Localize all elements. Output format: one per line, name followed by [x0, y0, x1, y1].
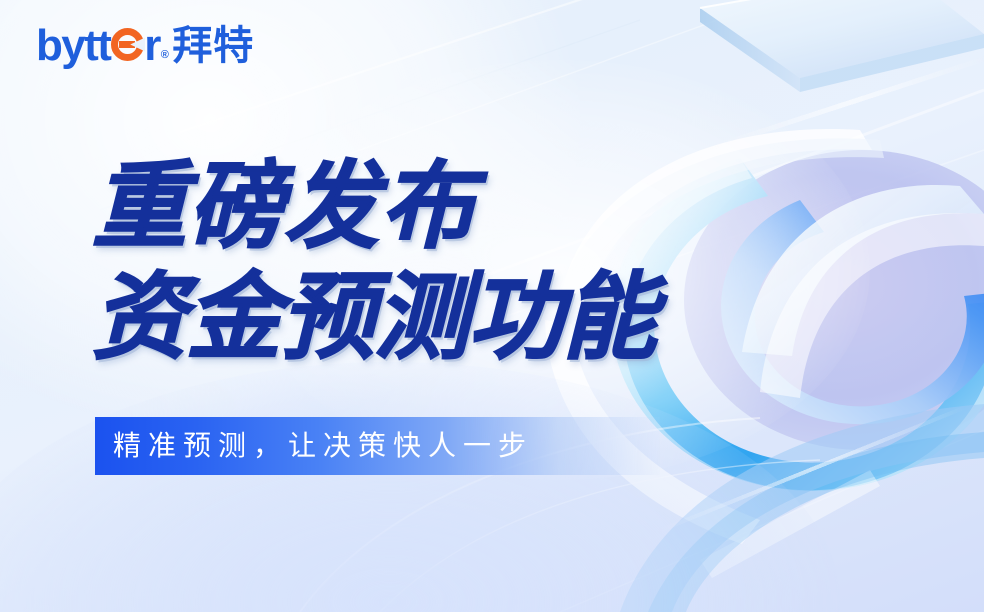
floating-slab-shape — [700, 0, 984, 92]
outer-glass-ring — [611, 158, 984, 491]
brand-logo-chinese: 拜特 — [172, 26, 254, 66]
highlight-streaks — [652, 54, 984, 536]
registered-mark-icon: ® — [161, 50, 168, 61]
promo-poster: bytt r ® 拜特 重磅发布 资金预测功能 精准预测，让决策快人一步 — [0, 0, 984, 612]
headline-line-1: 重磅发布 — [92, 160, 656, 255]
inner-glass-ring — [721, 200, 984, 424]
subtitle-banner: 精准预测，让决策快人一步 — [95, 417, 660, 475]
brand-logo-e-icon — [111, 28, 144, 61]
brand-logo-latin-part1: bytt — [36, 24, 110, 68]
brand-logo-latin-part2: r — [144, 24, 160, 68]
headline-line-2: 资金预测功能 — [92, 271, 656, 366]
brand-logo: bytt r ® 拜特 — [36, 24, 254, 68]
brand-logo-latin: bytt r ® — [36, 24, 172, 68]
subtitle-text: 精准预测，让决策快人一步 — [95, 432, 533, 460]
bottom-cyan-ribbon — [620, 404, 984, 612]
bottom-glow — [0, 362, 840, 612]
headline-block: 重磅发布 资金预测功能 — [92, 160, 656, 366]
frosted-glass-sweep — [742, 185, 984, 398]
lavender-disc — [684, 150, 984, 450]
